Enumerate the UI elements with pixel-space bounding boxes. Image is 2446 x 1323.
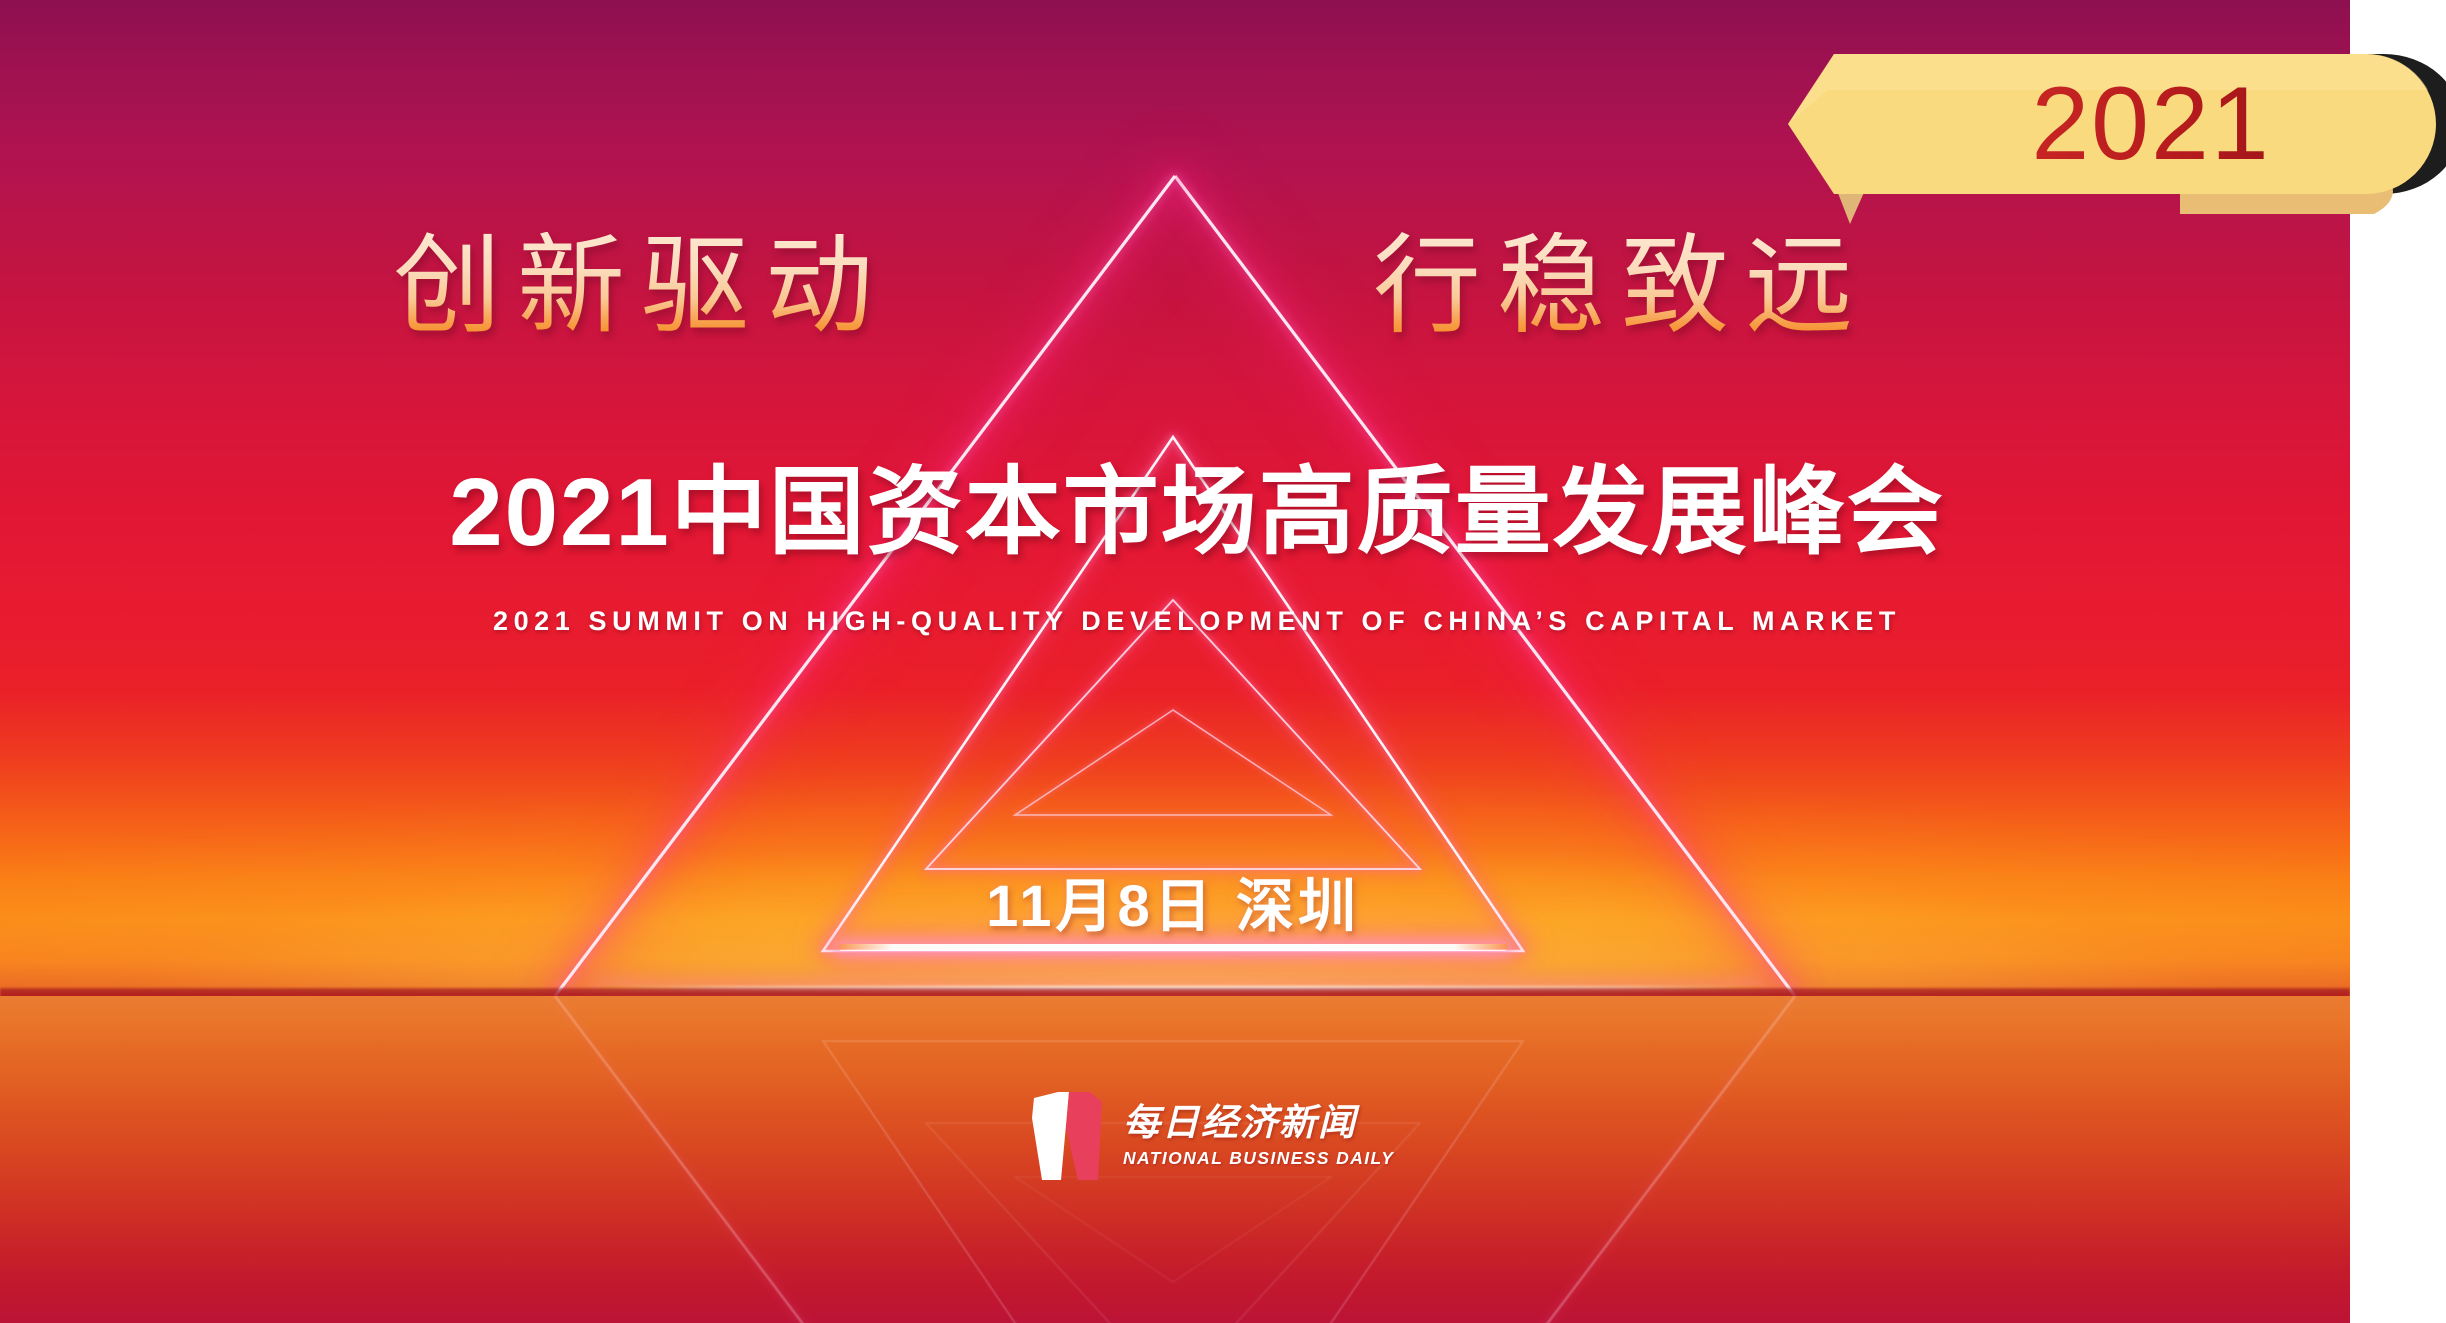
nbd-name-en: NATIONAL BUSINESS DAILY xyxy=(1123,1148,1394,1169)
main-title: 2021中国资本市场高质量发展峰会 xyxy=(255,462,2139,564)
neon-base-bar xyxy=(838,944,1508,951)
inner-neon-triangle-reflection xyxy=(0,996,2350,1010)
english-subtitle: 2021 SUMMIT ON HIGH-QUALITY DEVELOPMENT … xyxy=(255,608,2139,635)
poster-canvas: 创新驱动 行稳致远 2021中国资本市场高质量发展峰会 2021 SUMMIT … xyxy=(0,0,2446,1323)
slogan-left: 创新驱动 xyxy=(393,232,889,340)
nbd-n-mark-icon xyxy=(1028,1088,1106,1184)
event-date-location: 11月8日 深圳 xyxy=(838,878,1508,936)
nbd-logo: 每日经济新闻 NATIONAL BUSINESS DAILY xyxy=(1028,1088,1394,1184)
nbd-logo-text: 每日经济新闻 NATIONAL BUSINESS DAILY xyxy=(1123,1103,1394,1168)
slogan-right: 行稳致远 xyxy=(1373,232,1869,340)
nbd-name-cn: 每日经济新闻 xyxy=(1123,1103,1394,1142)
year-badge: 2021 xyxy=(1788,28,2440,220)
